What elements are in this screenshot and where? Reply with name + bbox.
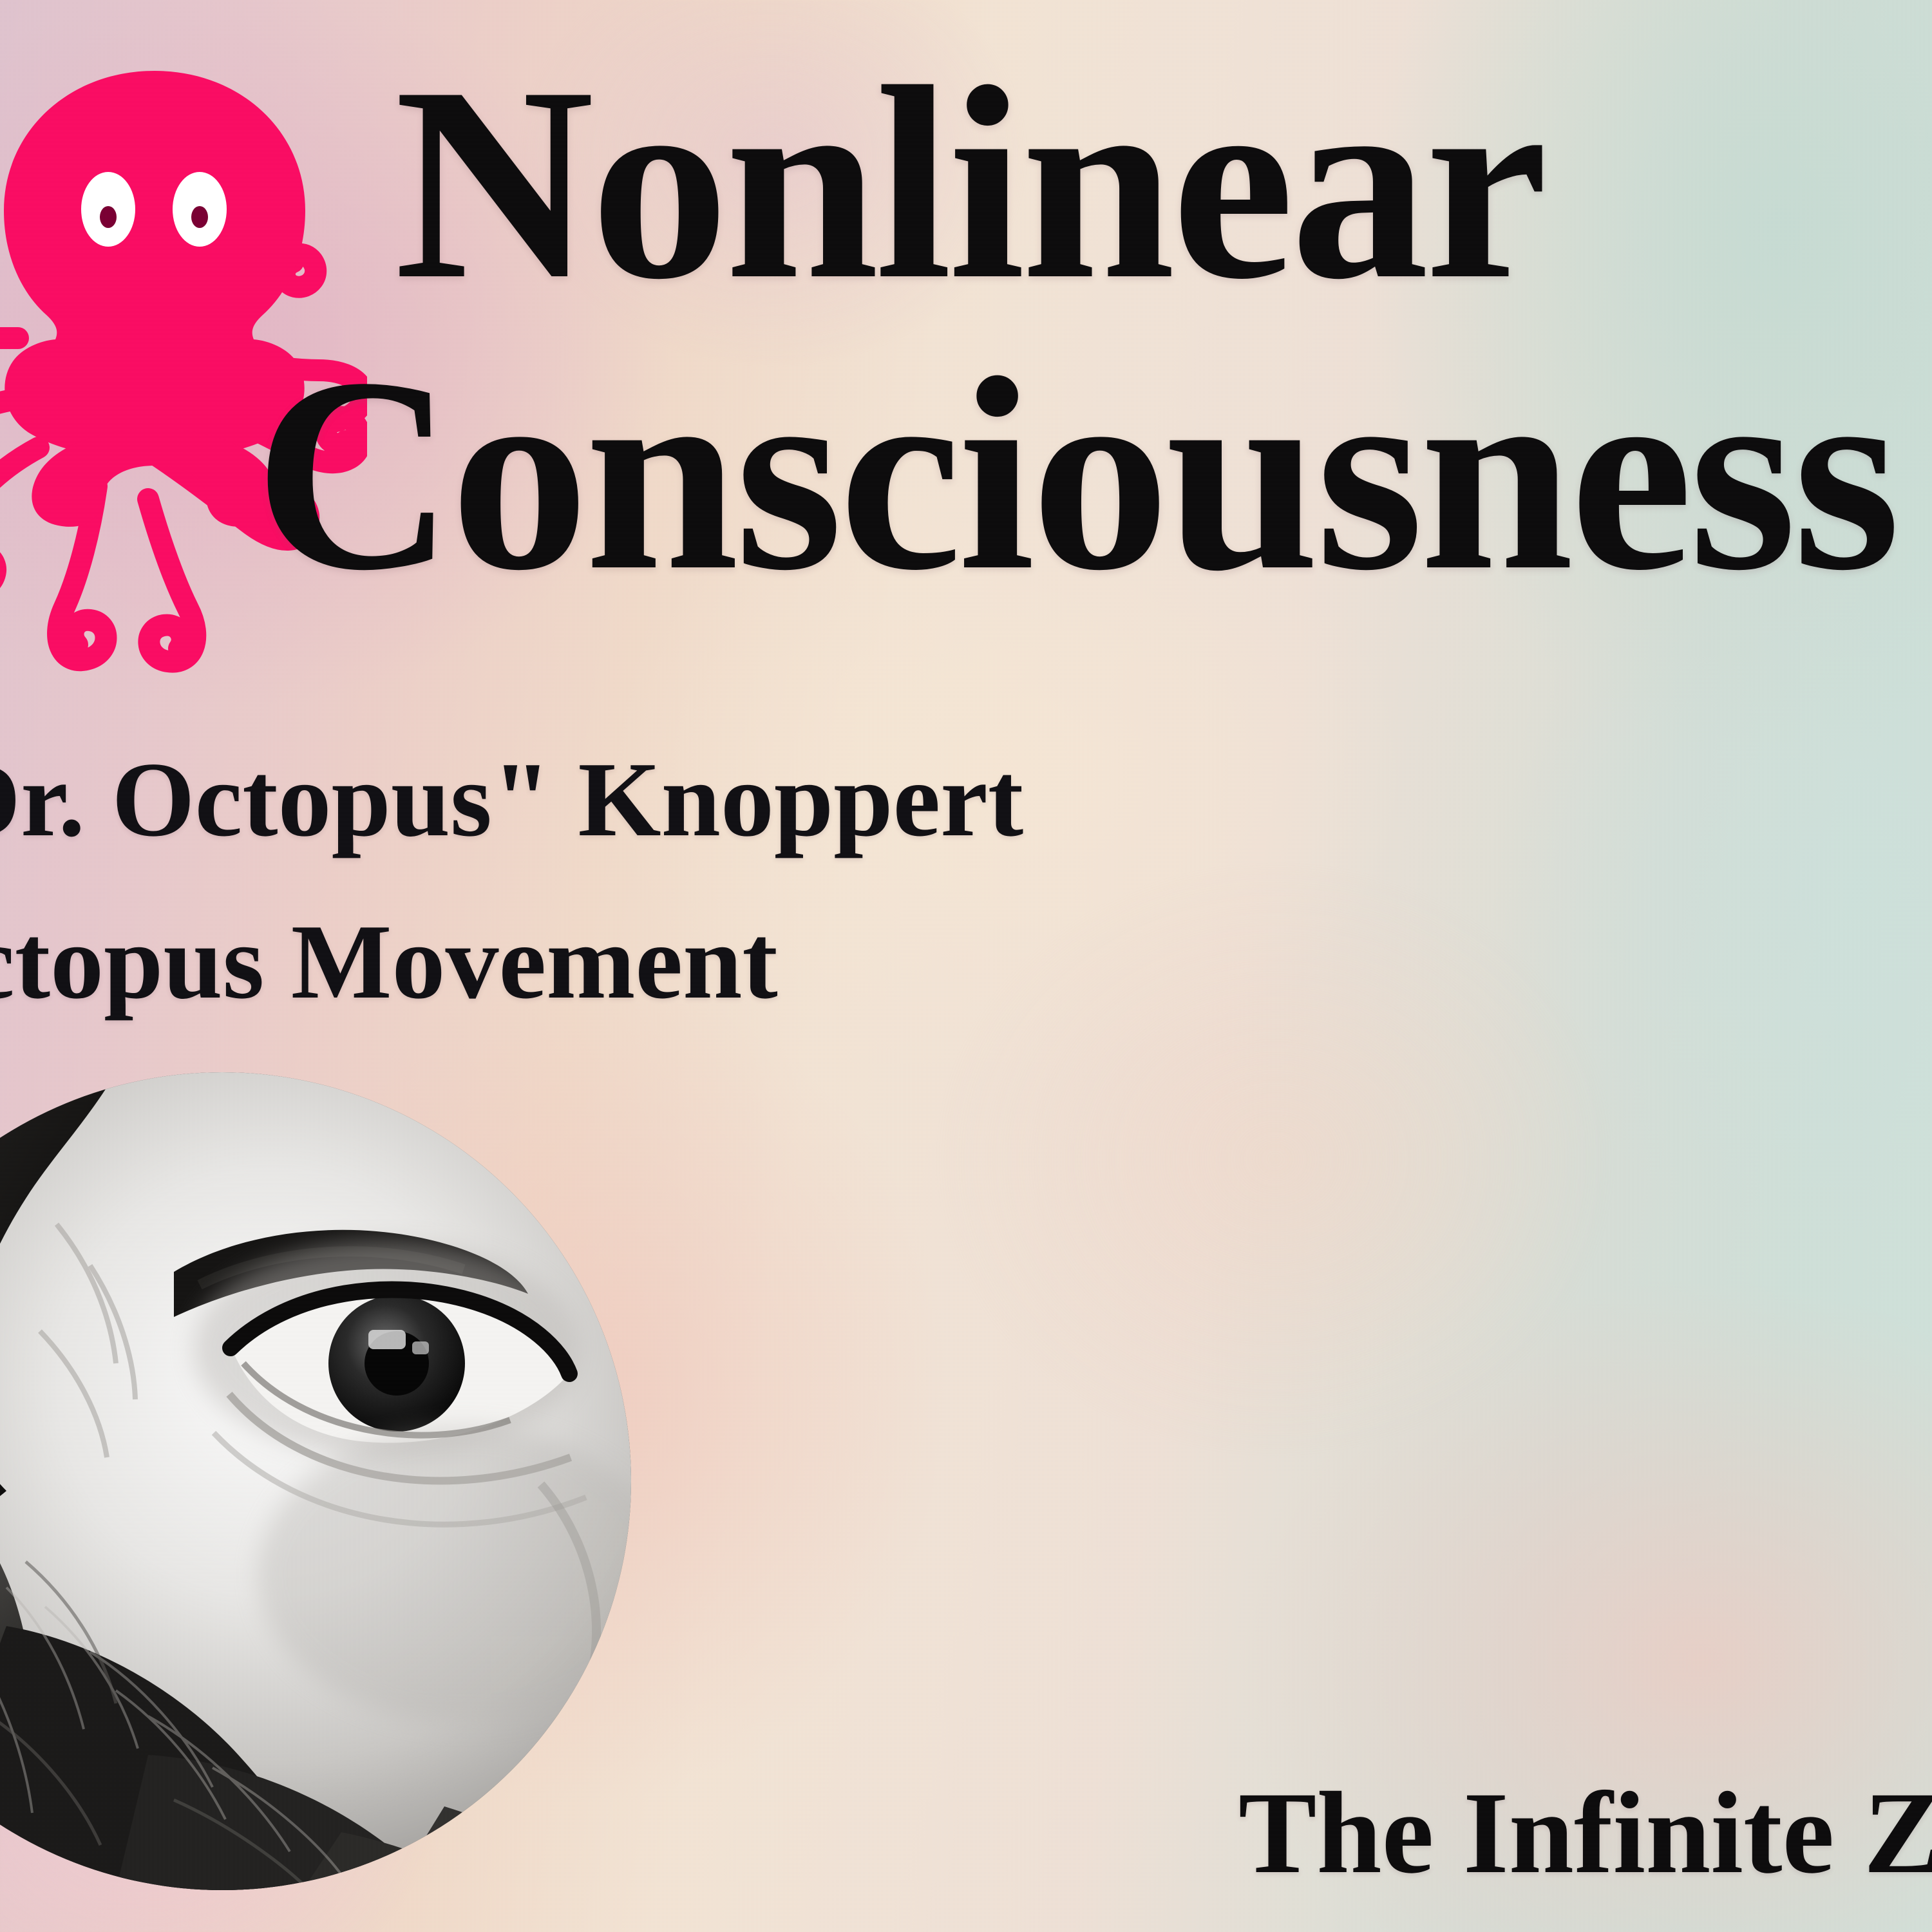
subtitle-line-org: Octopus Movement xyxy=(0,880,1687,1043)
subtitle-line-host: "Dr. Octopus" Knoppert xyxy=(0,718,1687,880)
cover-art-canvas: Nonlinear Consciousness "Dr. Octopus" Kn… xyxy=(0,0,1932,1932)
cover-title: Nonlinear Consciousness xyxy=(0,39,1932,620)
title-line-2: Consciousness xyxy=(219,330,1932,621)
cover-subtitle: "Dr. Octopus" Knoppert Octopus Movement xyxy=(0,718,1687,1043)
brand-name: The Infinite Ze xyxy=(1238,1775,1932,1892)
title-line-1: Nonlinear xyxy=(6,39,1932,330)
